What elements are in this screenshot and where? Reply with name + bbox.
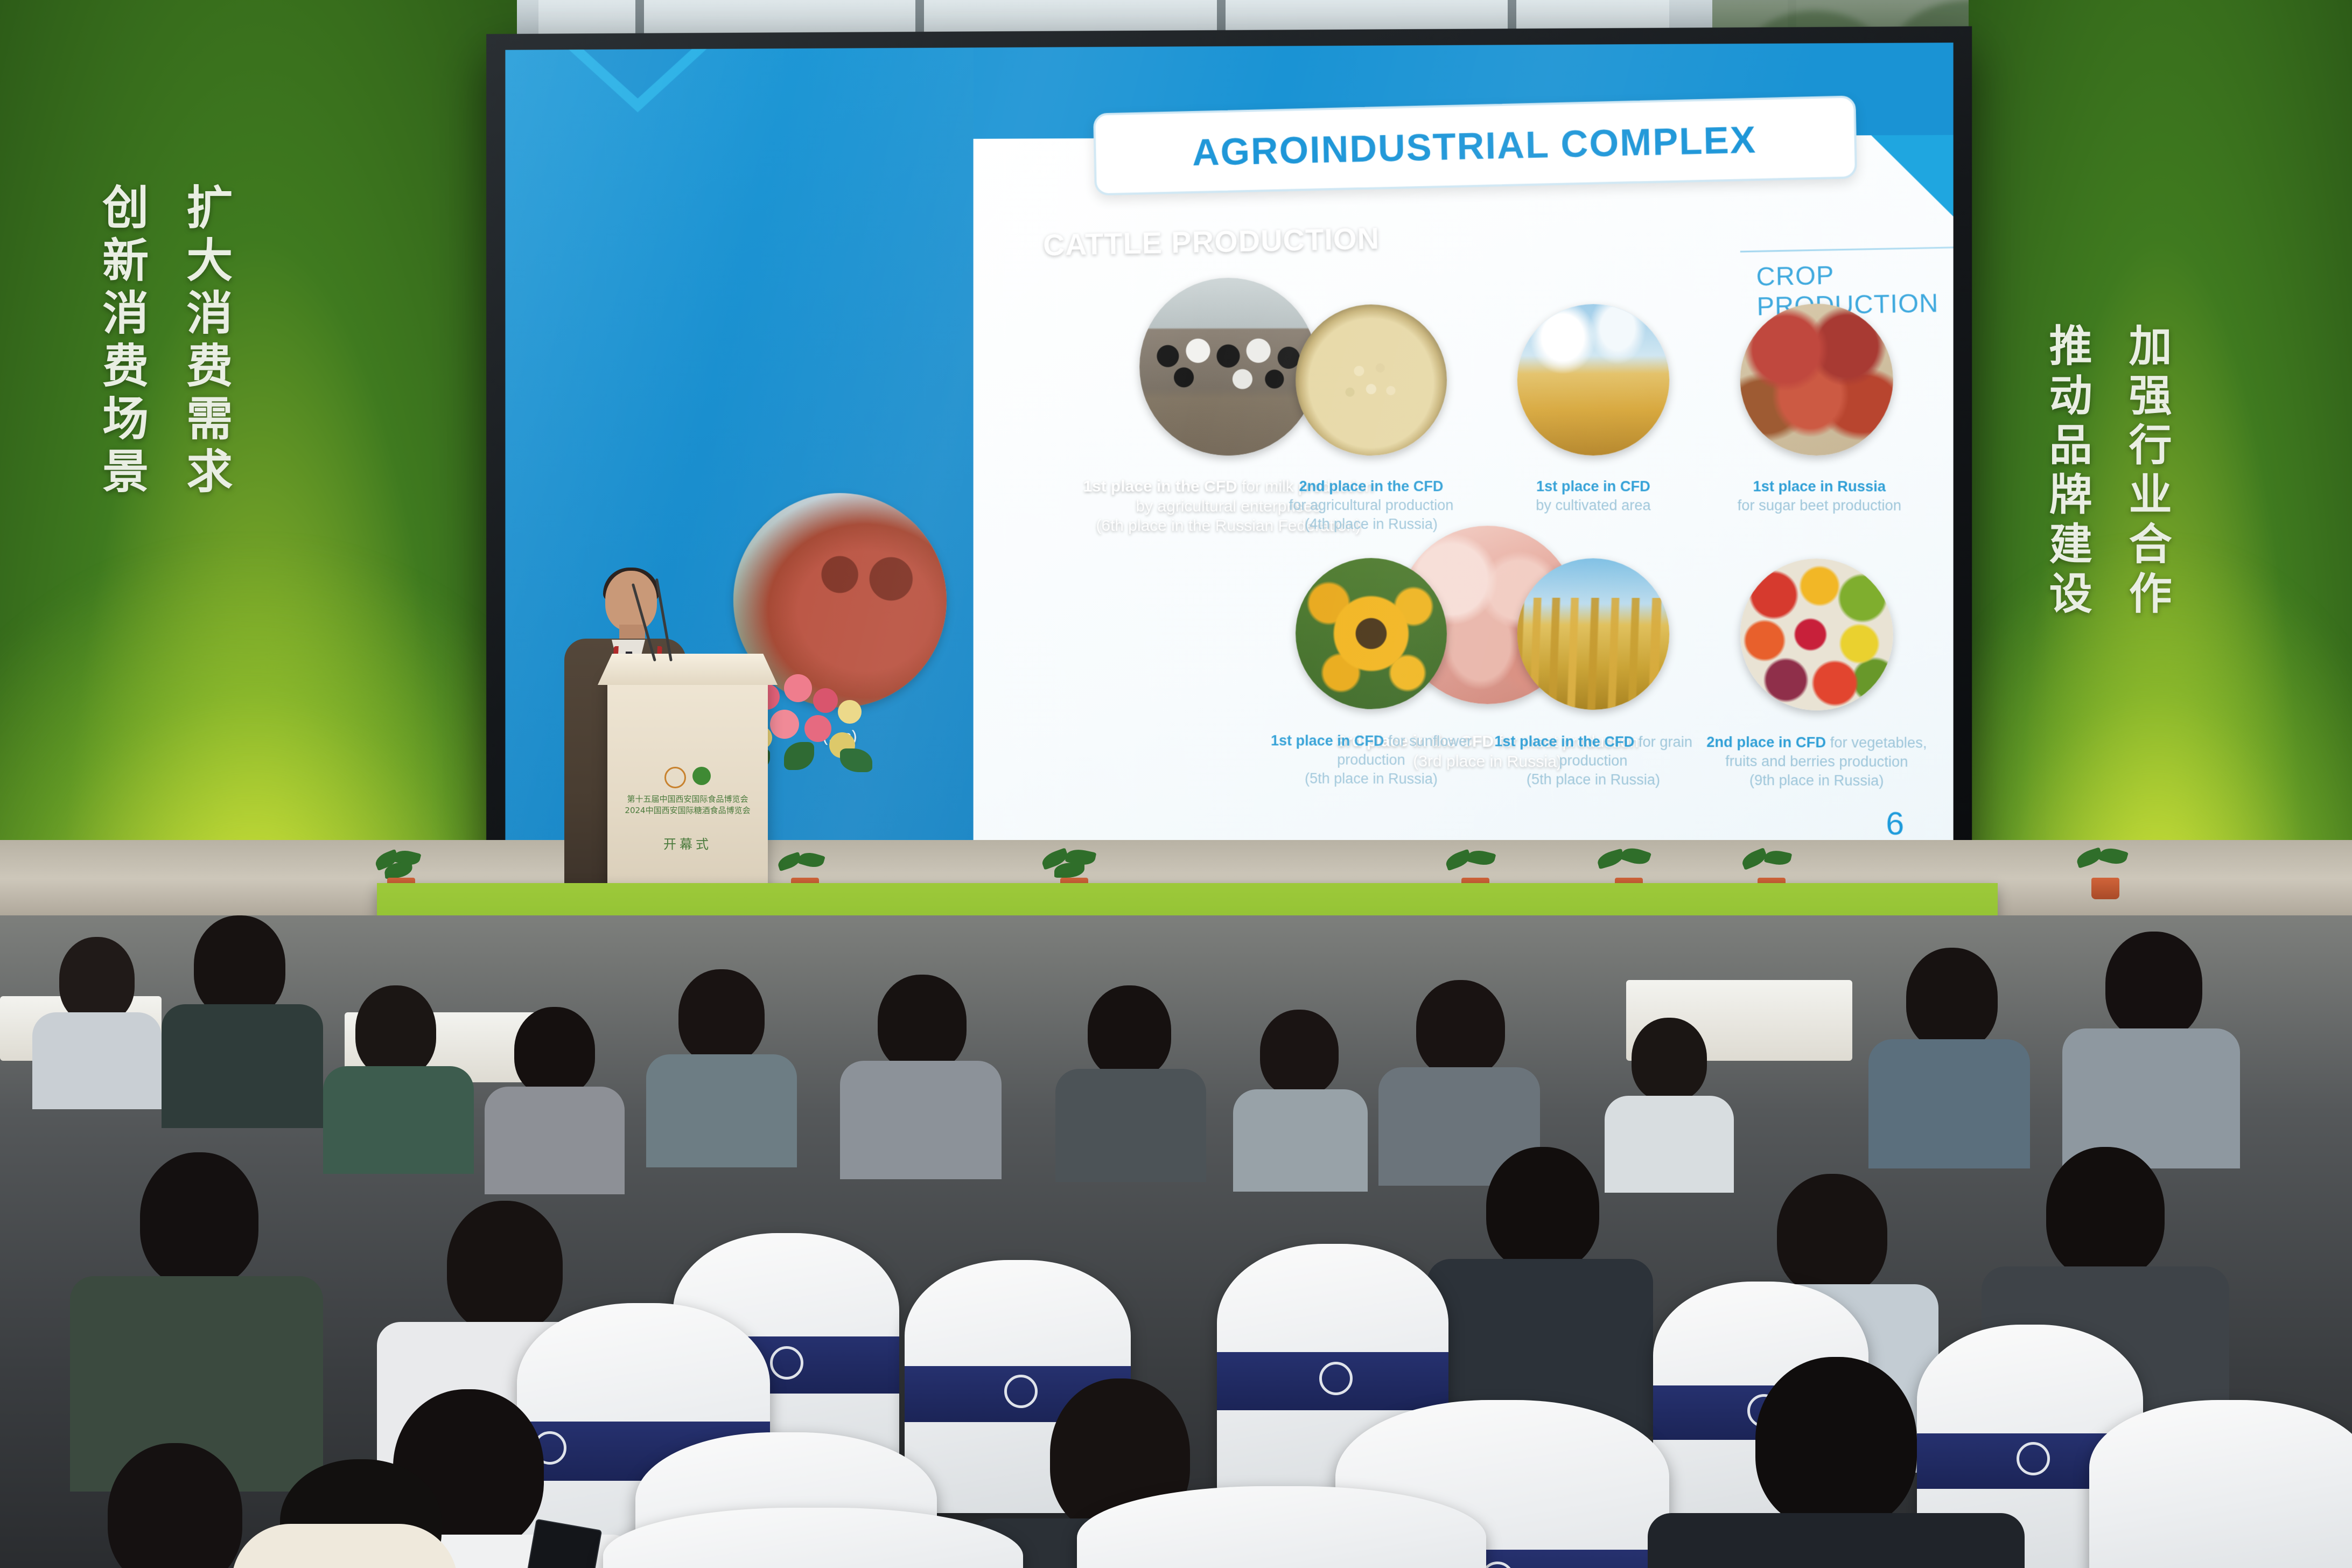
- wheat-ears-photo: [1517, 558, 1669, 710]
- audience-person: [646, 969, 797, 1152]
- chair-with-cover: [1077, 1486, 1486, 1568]
- crop-caption-sunflower: 1st place in CFD for sunflower productio…: [1247, 731, 1496, 789]
- audience-person: [32, 937, 162, 1098]
- chevron-decoration-inner: [584, 49, 692, 99]
- sunflower-photo: [1296, 558, 1447, 709]
- audience-person: [162, 915, 323, 1120]
- fruits-vegetables-photo: [1740, 558, 1893, 711]
- corner-triangle-decoration: [1871, 135, 1954, 217]
- podium-sign-line2: 2024中国西安国际糖酒食品博览会: [607, 805, 768, 816]
- right-banner-column-1: 推动品牌建设: [2045, 323, 2089, 620]
- crop-caption-sugar-beet: 1st place in Russia for sugar beet produ…: [1702, 477, 1937, 515]
- wheat-field-photo: [1517, 304, 1669, 456]
- grain-bowl-photo: [1296, 304, 1447, 456]
- crop-caption-grain: 1st place in the CFD for grain productio…: [1474, 732, 1713, 790]
- podium: 第十五届中国西安国际食品博览会 2024中国西安国际糖酒食品博览会 开幕式: [607, 672, 768, 898]
- audience-person: [1427, 1147, 1653, 1427]
- podium-sign-line3: 开幕式: [607, 834, 768, 852]
- slide-title: AGROINDUSTRIAL COMPLEX: [1192, 117, 1757, 173]
- left-banner-column-2: 扩大消费需求: [181, 183, 228, 500]
- audience-person-with-visor: [215, 1459, 517, 1568]
- podium-logos: [664, 767, 711, 788]
- audience-person: [1648, 1357, 2025, 1568]
- crop-caption-vegetables-fruits-berries: 2nd place in CFD for vegetables, fruits …: [1694, 733, 1940, 791]
- audience-person: [1055, 985, 1206, 1163]
- chair-with-cover: [603, 1508, 1023, 1568]
- slide-title-pill: AGROINDUSTRIAL COMPLEX: [1093, 95, 1857, 195]
- slide-page-number: 6: [1886, 804, 1904, 842]
- right-green-banner: 推动品牌建设 加强行业合作: [1969, 0, 2352, 894]
- right-banner-column-2: 加强行业合作: [2125, 323, 2169, 620]
- chair-with-cover: [2089, 1400, 2352, 1568]
- audience-person: [323, 985, 474, 1163]
- audience-person: [485, 1007, 625, 1179]
- conference-hall-scene: 创新消费场景 扩大消费需求 推动品牌建设 加强行业合作 AGROINDUSTRI…: [0, 0, 2352, 1568]
- cattle-production-heading: CATTLE PRODUCTION: [1042, 221, 1380, 263]
- audience-person: [1233, 1010, 1368, 1171]
- expo-logo-green-icon: [692, 767, 711, 785]
- podium-sign-text: 第十五届中国西安国际食品博览会 2024中国西安国际糖酒食品博览会: [607, 794, 768, 816]
- audience-person: [70, 1152, 323, 1486]
- audience-area: [0, 915, 2352, 1568]
- dairy-cows-photo: [1139, 278, 1317, 456]
- audience-person: [1378, 980, 1540, 1168]
- left-green-banner: 创新消费场景 扩大消费需求: [0, 0, 517, 894]
- audience-person: [840, 975, 1002, 1163]
- stage-plant: [2073, 849, 2138, 899]
- expo-logo-orange-icon: [664, 767, 686, 788]
- left-banner-column-1: 创新消费场景: [97, 183, 144, 500]
- podium-sign-line1: 第十五届中国西安国际食品博览会: [607, 794, 768, 805]
- sugar-beet-photo: [1740, 304, 1893, 456]
- podium-top: [598, 654, 778, 685]
- audience-person: [1868, 948, 2030, 1152]
- crop-caption-agricultural-production: 2nd place in the CFD for agricultural pr…: [1236, 477, 1507, 534]
- crop-caption-cultivated-area: 1st place in CFD by cultivated area: [1479, 477, 1707, 515]
- audience-person: [2062, 932, 2240, 1158]
- speaker-head: [605, 571, 657, 631]
